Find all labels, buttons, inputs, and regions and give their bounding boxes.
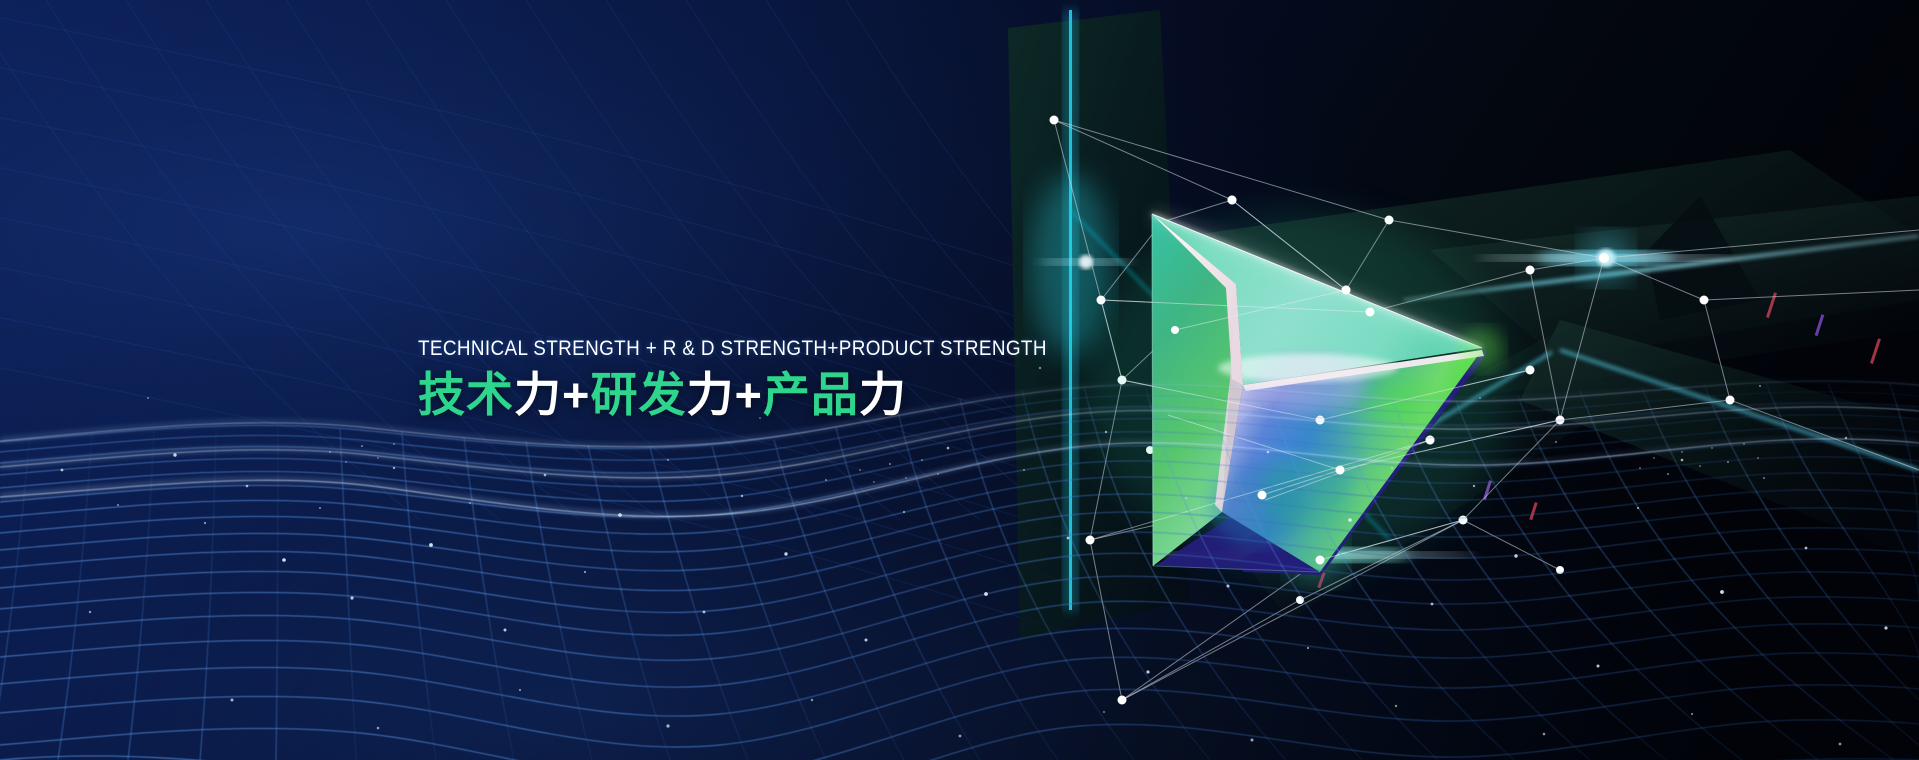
hero-banner: TECHNICAL STRENGTH + R & D STRENGTH+PROD… xyxy=(0,0,1919,760)
particle-dots xyxy=(0,0,1919,760)
